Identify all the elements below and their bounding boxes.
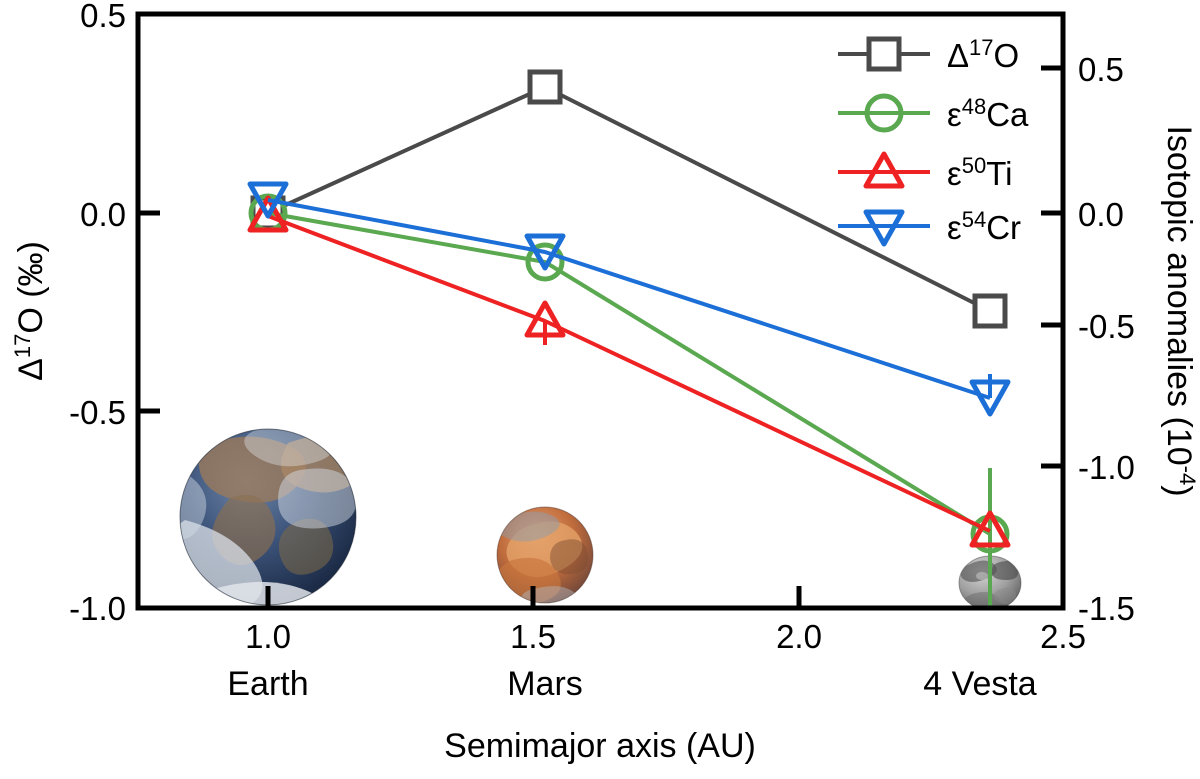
x-tick-label-1: 1.5	[510, 618, 556, 655]
legend-label-epsilon48Ca: ε48Ca	[947, 94, 1029, 133]
marker-delta17O-mars[interactable]	[530, 72, 560, 102]
y-axis-title-left: Δ17O (‰)	[10, 241, 50, 381]
figure-container: 0.5 0.0 -0.5 -1.0 0.5 0.0 -0.5 -1.0 -1.5…	[0, 0, 1200, 779]
y-axis-title-left-text: Δ17O (‰)	[10, 241, 50, 381]
y-axis-title-right: Isotopic anomalies (10-4)	[1160, 125, 1200, 496]
body-label-vesta: 4 Vesta	[923, 665, 1037, 703]
right-tick-label-3: -1.0	[1078, 449, 1135, 486]
x-axis-title-text: Semimajor axis (AU)	[444, 727, 756, 765]
x-tick-label-2: 2.0	[776, 618, 822, 655]
x-tick-label-3: 2.5	[1040, 618, 1086, 655]
right-tick-label-4: -1.5	[1078, 590, 1135, 627]
x-tick-label-0: 1.0	[245, 618, 291, 655]
left-tick-label-0: 0.5	[80, 0, 126, 34]
right-tick-label-0: 0.5	[1078, 51, 1124, 88]
left-tick-label-3: -1.0	[69, 590, 126, 627]
x-axis-title: Semimajor axis (AU)	[444, 727, 756, 765]
right-tick-label-1: 0.0	[1078, 196, 1124, 233]
body-label-earth: Earth	[227, 665, 308, 703]
left-tick-label-2: -0.5	[69, 394, 126, 431]
right-tick-label-2: -0.5	[1078, 308, 1135, 345]
body-label-mars: Mars	[507, 665, 583, 703]
chart-svg: 0.5 0.0 -0.5 -1.0 0.5 0.0 -0.5 -1.0 -1.5…	[0, 0, 1200, 779]
left-tick-label-1: 0.0	[80, 196, 126, 233]
y-axis-title-right-text: Isotopic anomalies (10-4)	[1160, 125, 1200, 496]
marker-delta17O-vesta[interactable]	[975, 296, 1005, 326]
